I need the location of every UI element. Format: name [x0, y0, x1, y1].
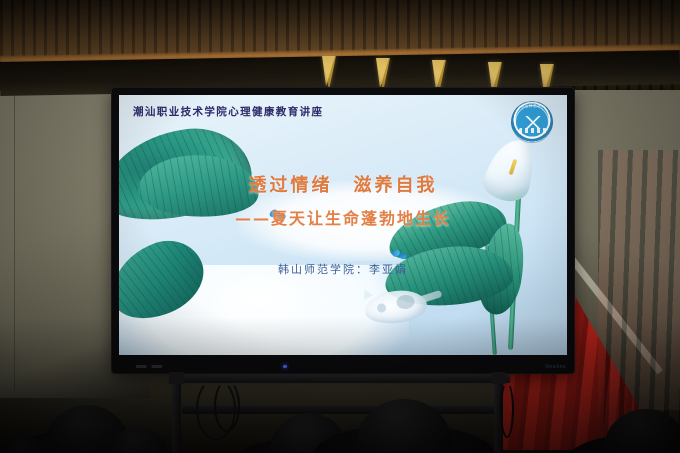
slide-title: 透过情绪 滋养自我	[119, 171, 567, 197]
school-emblem-icon: 韩山师范学院	[511, 101, 553, 143]
pennant-decoration-1	[322, 56, 336, 90]
emblem-wave-icon	[519, 128, 547, 133]
presentation-screen[interactable]: 潮汕职业技术学院心理健康教育讲座 透过情绪 滋养自我 ——夏天让生命蓬勃地生长 …	[119, 95, 567, 355]
cat-patch-icon	[396, 294, 415, 310]
emblem-arc-text: 韩山师范学院	[512, 104, 553, 109]
slide-header: 潮汕职业技术学院心理健康教育讲座	[133, 104, 323, 119]
audience-silhouettes	[0, 343, 680, 453]
slide-presenter: 韩山师范学院：李亚娟	[119, 261, 567, 277]
display-bezel-inner: 潮汕职业技术学院心理健康教育讲座 透过情绪 滋养自我 ——夏天让生命蓬勃地生长 …	[119, 95, 567, 355]
pennant-decoration-2	[376, 58, 390, 92]
audience-head-6	[604, 409, 680, 453]
audience-head-5	[356, 399, 452, 453]
cat-eye-icon	[377, 303, 387, 313]
lecture-hall-scene: 潮汕职业技术学院心理健康教育讲座 透过情绪 滋养自我 ——夏天让生命蓬勃地生长 …	[0, 0, 680, 453]
interactive-flat-panel[interactable]: 潮汕职业技术学院心理健康教育讲座 透过情绪 滋养自我 ——夏天让生命蓬勃地生长 …	[112, 88, 574, 373]
slide-subtitle: ——夏天让生命蓬勃地生长	[119, 205, 567, 229]
